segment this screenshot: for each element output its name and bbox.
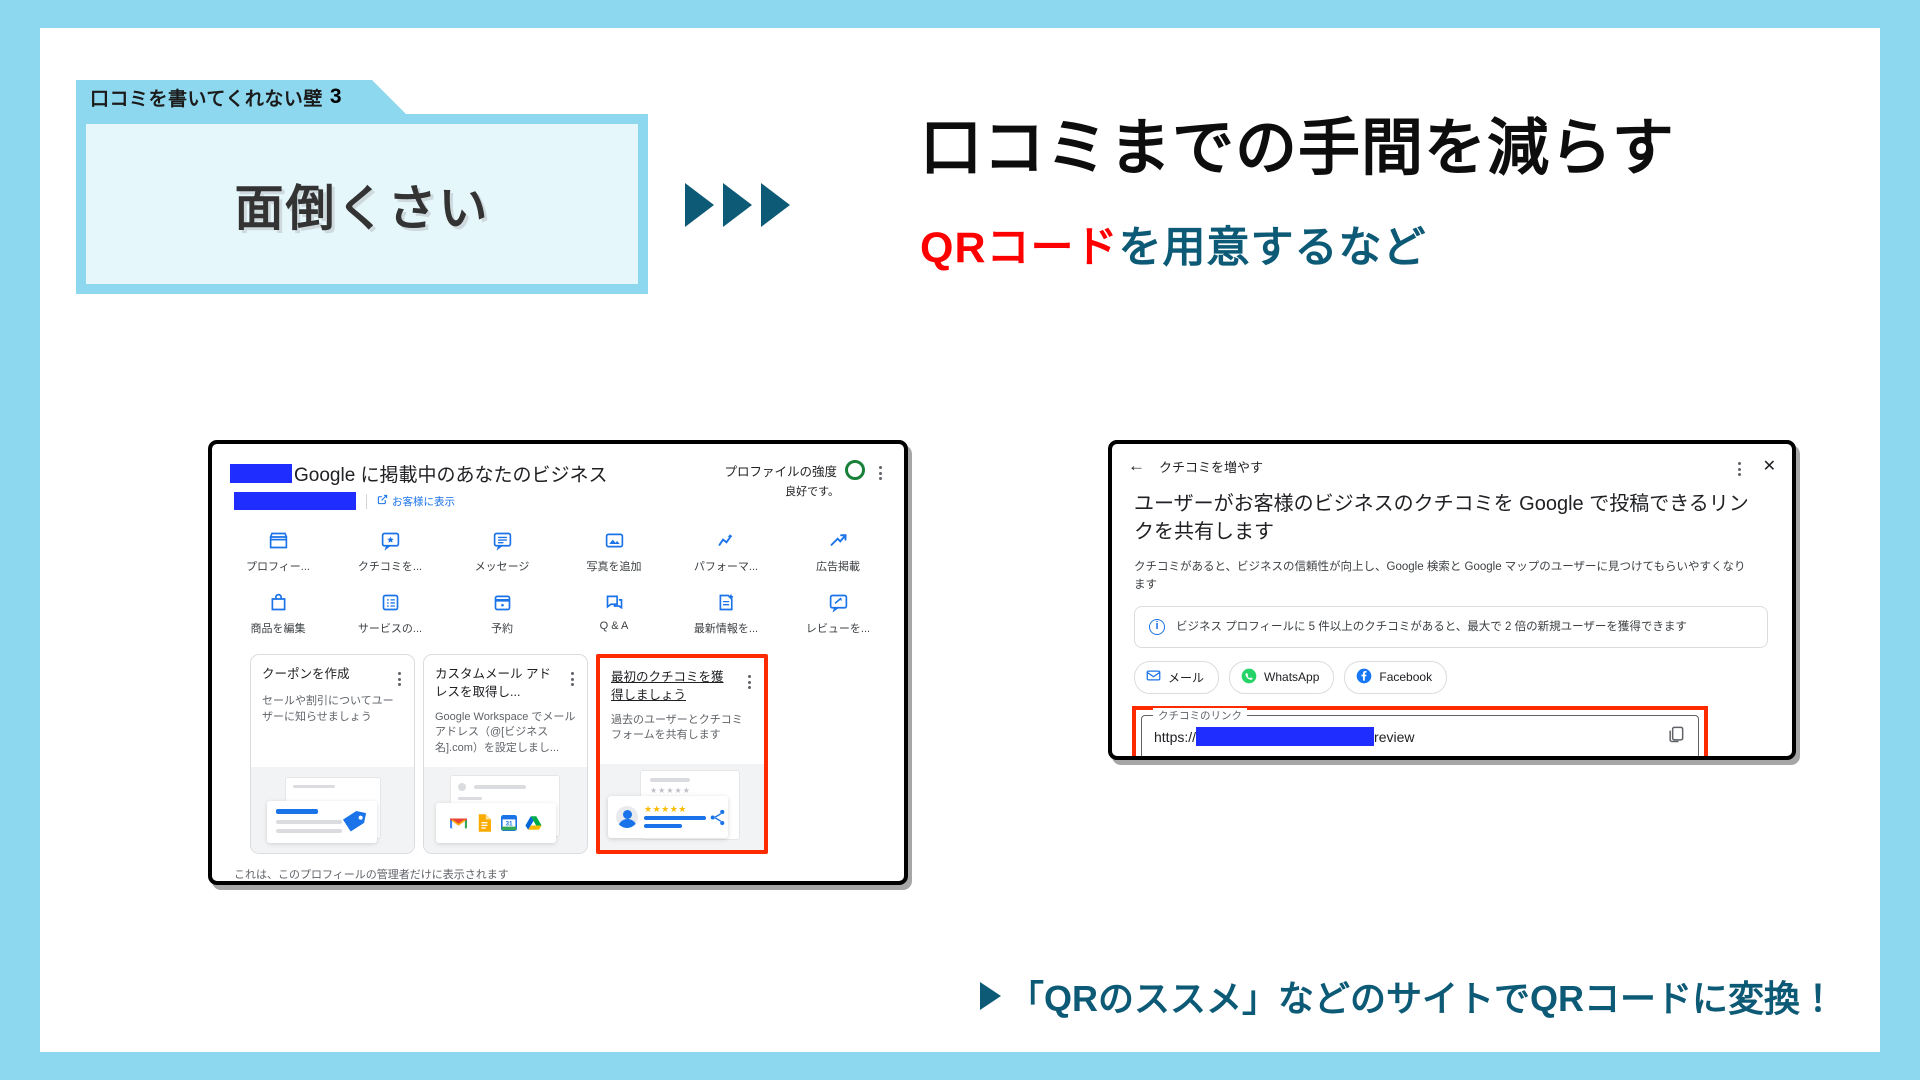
solution-subheadline-red: QRコード [920,224,1119,272]
list-icon [378,590,402,614]
thumb-line [650,778,690,782]
kebab-menu-icon[interactable] [1730,456,1745,476]
gbp-dashboard-screenshot: Google に掲載中のあなたのビジネス お客様に表示 [208,440,908,885]
share-email-label: メール [1168,669,1204,686]
quick-action-label: 商品を編集 [251,620,306,636]
triangle-right-icon [761,183,790,227]
thumb-stars-gold: ★★★★★ [644,804,687,815]
review-link-value: https://review [1154,727,1415,746]
divider [366,494,367,509]
gbp-header: Google に掲載中のあなたのビジネス お客様に表示 [212,444,904,516]
google-calendar-icon: 31 [500,815,517,832]
google-drive-icon [525,815,542,832]
qa-icon [602,590,626,614]
quick-action-booking[interactable]: 予約 [446,584,558,642]
gbp-title-column: Google に掲載中のあなたのビジネス お客様に表示 [230,460,724,510]
message-icon [490,528,514,552]
problem-box: 面倒くさい [76,114,648,294]
dialog-info-text: ビジネス プロフィールに 5 件以上のクチコミがあると、最大で 2 倍の新規ユー… [1176,618,1687,636]
shopping-bag-icon [266,590,290,614]
share-whatsapp-label: WhatsApp [1264,670,1319,684]
dialog-share-buttons: メール WhatsApp Facebook [1112,648,1792,694]
kebab-menu-icon[interactable] [390,666,405,686]
triangle-right-icon [980,982,1001,1010]
suggestion-card-highlighted[interactable]: 最初のクチコミを獲得しましょう 過去のユーザーとクチコミフォームを共有します ★… [596,654,768,854]
performance-icon [714,528,738,552]
gbp-title-line: Google に掲載中のあなたのビジネス [230,460,724,487]
review-link-field[interactable]: クチコミのリンク https://review [1141,715,1699,759]
gbp-title-text: Google に掲載中のあなたのビジネス [294,460,608,487]
quick-action-label: 最新情報を... [694,620,758,636]
quick-action-services[interactable]: サービスの... [334,584,446,642]
strength-ring-icon [845,460,865,480]
quick-action-write-review[interactable]: レビューを... [782,584,894,642]
profile-strength-label: プロファイルの強度 [724,461,837,480]
photo-icon [602,528,626,552]
close-icon[interactable]: ✕ [1759,456,1776,476]
quick-action-performance[interactable]: パフォーマ... [670,522,782,580]
dialog-toolbar: ← クチコミを増やす ✕ [1112,444,1792,476]
review-link-prefix: https:// [1154,729,1196,745]
card-header: 最初のクチコミを獲得しましょう [600,658,764,705]
thumb-line-blue [276,809,318,814]
copy-icon[interactable] [1666,724,1686,749]
google-apps-row: 31 [436,803,556,843]
triangle-right-icon [685,183,714,227]
mail-icon [1146,668,1161,686]
thumb-line-blue [644,816,706,820]
calendar-icon [490,590,514,614]
transition-arrows [685,183,790,227]
share-facebook-label: Facebook [1379,670,1432,684]
review-link-callout: クチコミのリンク https://review [1132,706,1708,760]
thumb-line [293,785,335,788]
arrow-left-icon[interactable]: ← [1128,456,1145,476]
quick-action-label: レビューを... [806,620,870,636]
suggestion-card[interactable]: クーポンを作成 セールや割引についてユーザーに知らせましょう [250,654,415,854]
review-star-icon [378,528,402,552]
solution-headline: 口コミまでの手間を減らす [920,116,1675,183]
bottom-caption-text: 「QRのススメ」などのサイトでQRコードに変換！ [1008,970,1836,1022]
card-header: カスタムメール アドレスを取得し... [424,655,587,702]
trending-up-icon [826,528,850,552]
quick-action-post-update[interactable]: 最新情報を... [670,584,782,642]
gbp-quick-actions: プロフィー... クチコミを... [212,516,904,650]
show-to-customer-label: お客様に表示 [392,494,455,509]
review-link-dialog: ← クチコミを増やす ✕ ユーザーがお客様のビジネスのクチコミを Google … [1108,440,1796,760]
card-thumbnail: ★★★★★ ★★★★★ [600,764,764,850]
problem-tab-number: 3 [330,85,342,109]
quick-action-qa[interactable]: Q & A [558,584,670,642]
gmail-icon [450,815,467,832]
quick-action-label: メッセージ [475,558,530,574]
card-title: カスタムメール アドレスを取得し... [435,666,553,702]
quick-action-label: 広告掲載 [816,558,860,574]
thumb-stars-gray: ★★★★★ [650,786,691,795]
google-docs-icon [475,815,492,832]
quick-action-messages[interactable]: メッセージ [446,522,558,580]
dialog-body-text: クチコミがあると、ビジネスの信頼性が向上し、Google 検索と Google … [1112,547,1792,595]
card-title: クーポンを作成 [262,666,350,686]
dialog-bar-title: クチコミを増やす [1159,457,1716,476]
thumb-line [276,829,342,833]
problem-callout: 口コミを書いてくれない壁 3 面倒くさい [76,80,648,294]
show-to-customer-link[interactable]: お客様に表示 [377,494,455,509]
solution-subheadline-teal: を用意するなど [1119,224,1427,272]
facebook-icon [1356,668,1372,687]
card-thumbnail [251,767,414,853]
gbp-suggestion-cards: ❮ クーポンを作成 セールや割引についてユーザーに知らせましょう [212,650,904,854]
profile-strength-row: プロファイルの強度 [724,460,865,480]
whatsapp-icon [1241,668,1257,687]
redaction-bar [234,492,356,510]
storefront-icon [266,528,290,552]
dialog-info-box: i ビジネス プロフィールに 5 件以上のクチコミがあると、最大で 2 倍の新規… [1134,606,1768,648]
post-add-icon [714,590,738,614]
quick-action-label: クチコミを... [358,558,422,574]
card-header: クーポンを作成 [251,655,414,686]
kebab-menu-icon[interactable] [871,460,886,480]
quick-action-label: サービスの... [358,620,422,636]
card-title: 最初のクチコミを獲得しましょう [611,669,729,705]
info-icon: i [1149,619,1165,635]
bottom-caption: 「QRのススメ」などのサイトでQRコードに変換！ [980,970,1836,1022]
review-link-suffix: review [1374,729,1414,745]
slide-canvas: 口コミを書いてくれない壁 3 面倒くさい 口コミまでの手間を減らす QRコードを… [40,28,1880,1052]
chevron-left-icon[interactable]: ❮ [230,882,261,885]
suggestion-card[interactable]: カスタムメール アドレスを取得し... Google Workspace でメー… [423,654,588,854]
review-edit-icon [826,590,850,614]
problem-tab: 口コミを書いてくれない壁 3 [76,80,406,114]
share-whatsapp-button[interactable]: WhatsApp [1229,661,1334,694]
thumb-line-blue [644,824,682,828]
problem-text: 面倒くさい [234,169,489,240]
card-description: Google Workspace でメールアドレス（@[ビジネス名].com）を… [424,702,587,758]
quick-action-label: パフォーマ... [694,558,758,574]
quick-action-add-photo[interactable]: 写真を追加 [558,522,670,580]
external-link-icon [377,494,388,508]
redaction-bar [230,464,292,483]
quick-action-reviews[interactable]: クチコミを... [334,522,446,580]
profile-strength: プロファイルの強度 良好です。 [724,460,871,499]
solution-subheadline: QRコードを用意するなど [920,213,1675,275]
quick-action-label: 予約 [491,620,513,636]
dialog-title: ユーザーがお客様のビジネスのクチコミを Google で投稿できるリンクを共有し… [1112,476,1792,547]
card-thumbnail: 31 [424,767,587,853]
svg-text:31: 31 [505,820,513,827]
gbp-subtitle-line: お客様に表示 [230,492,724,510]
kebab-menu-icon[interactable] [563,666,578,702]
share-email-button[interactable]: メール [1134,661,1219,694]
coupon-tag-icon [339,807,369,842]
kebab-menu-icon[interactable] [740,669,755,705]
quick-action-label: 写真を追加 [587,558,642,574]
solution-headline-text: 口コミまでの手間を減らす [920,114,1675,183]
review-link-legend: クチコミのリンク [1153,708,1247,723]
thumb-line [276,820,342,824]
triangle-right-icon [723,183,752,227]
share-icon [708,808,727,832]
profile-strength-status: 良好です。 [785,483,839,499]
gbp-footnote: これは、このプロフィールの管理者だけに表示されます [212,854,904,882]
quick-action-ads[interactable]: 広告掲載 [782,522,894,580]
card-description: 過去のユーザーとクチコミフォームを共有します [600,705,764,745]
quick-action-label: Q & A [600,620,629,632]
card-description: セールや割引についてユーザーに知らせましょう [251,686,414,726]
avatar [616,806,638,828]
thumb-line [474,785,526,789]
solution-headline-block: 口コミまでの手間を減らす QRコードを用意するなど [920,116,1675,275]
thumb-dot [458,783,466,791]
quick-action-edit-products[interactable]: 商品を編集 [222,584,334,642]
quick-action-profile[interactable]: プロフィー... [222,522,334,580]
quick-action-label: プロフィー... [246,558,310,574]
share-facebook-button[interactable]: Facebook [1344,661,1447,694]
redaction-bar [1196,727,1374,746]
problem-box-inner: 面倒くさい [86,124,638,284]
problem-tab-label: 口コミを書いてくれない壁 [90,84,323,111]
thumb-line [458,797,482,800]
